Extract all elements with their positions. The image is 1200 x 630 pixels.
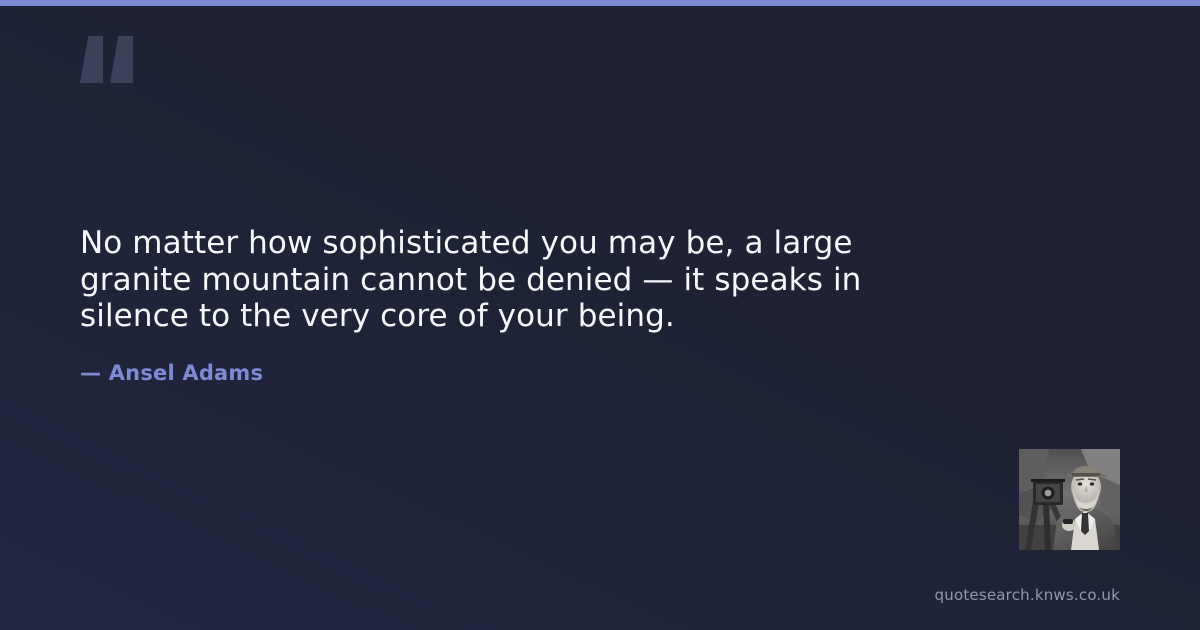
quote-attribution: — Ansel Adams	[80, 335, 910, 385]
quote-block: No matter how sophisticated you may be, …	[80, 225, 910, 385]
opening-quote-mark-icon	[80, 36, 146, 86]
quote-text: No matter how sophisticated you may be, …	[80, 225, 910, 335]
top-accent-bar	[0, 0, 1200, 6]
quote-card: No matter how sophisticated you may be, …	[0, 0, 1200, 630]
source-url: quotesearch.knws.co.uk	[935, 586, 1120, 604]
author-portrait-image	[1019, 449, 1120, 550]
quote-mark-wedge-right	[110, 36, 133, 83]
quote-mark-wedge-left	[80, 36, 103, 83]
